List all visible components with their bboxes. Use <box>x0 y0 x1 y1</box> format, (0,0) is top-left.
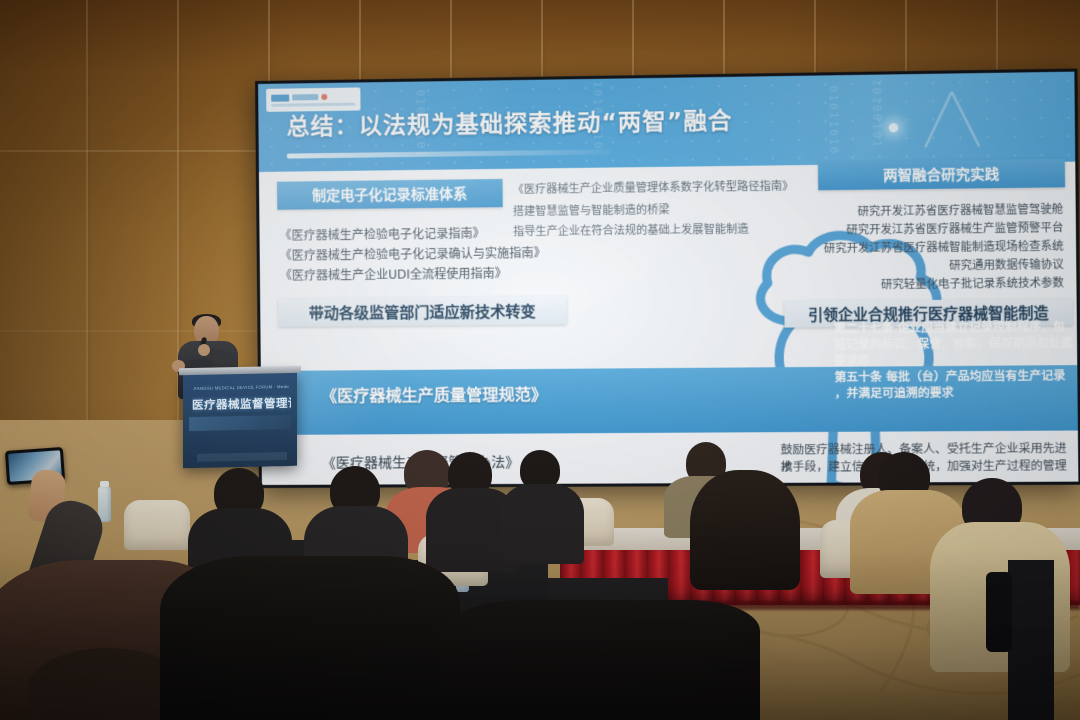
podium: JIANGSU MEDICAL DEVICE FORUM · Medical D… <box>183 371 297 468</box>
band-title: 《医疗器械生产质量管理规范》 <box>321 381 547 407</box>
podium-chinese-text: 医疗器械监督管理论坛 <box>192 395 291 413</box>
left-panel-header: 制定电子化记录标准体系 <box>277 179 503 210</box>
presentation-slide: 01010101 10101010 01011010 10100101 <box>258 72 1078 485</box>
thermos-bottle <box>986 572 1012 652</box>
slide-title-band: 01010101 10101010 01011010 10100101 <box>258 72 1075 172</box>
podium-decor-strip <box>189 415 291 431</box>
binary-decor: 01011010 <box>826 85 840 155</box>
projection-screen: 01010101 10101010 01011010 10100101 <box>258 72 1078 485</box>
right-panel-item: 研究开发江苏省医疗器械智慧监管驾驶舱 <box>858 201 1064 221</box>
left-panel-item: 《医疗器械生产检验电子化记录确认与实施指南》 <box>280 243 546 266</box>
bottle-cap <box>100 481 109 487</box>
center-panel-item: 《医疗器械生产企业质量管理体系数字化转型路径指南》 <box>513 177 794 198</box>
overlay-blue-line: ，并满足可追溯的要求 <box>835 383 1079 401</box>
conference-photo: 01010101 10101010 01011010 10100101 <box>0 0 1080 720</box>
right-panel-header: 两智融合研究实践 <box>818 159 1065 191</box>
left-panel-footer: 带动各级监管部门适应新技术转变 <box>278 296 567 327</box>
left-panel-item: 《医疗器械生产检验电子化记录指南》 <box>279 223 484 245</box>
logo-underline <box>271 102 355 106</box>
slide-title: 总结：以法规为基础探索推动“两智”融合 <box>286 101 732 141</box>
projection-screen-frame: 01010101 10101010 01011010 10100101 <box>255 69 1080 488</box>
logo-mark-secondary <box>292 94 318 100</box>
binary-decor: 10100101 <box>870 79 884 149</box>
podium-lower-panel <box>197 452 287 462</box>
foreground-audience-body <box>160 556 460 720</box>
logo-marks <box>271 93 355 101</box>
logo-dot-icon <box>321 94 327 100</box>
side-table <box>1008 560 1054 720</box>
audience-body <box>500 484 584 564</box>
right-panel-item: 研究开发江苏省医疗器械生产监管预警平台 <box>846 219 1063 239</box>
foreground-audience-body <box>440 600 760 720</box>
overlay-blue-line: 第二十七条 企业应当建立记录控制程序，包 <box>834 317 1078 336</box>
glow-dot-decor <box>889 123 898 132</box>
overlay-blue-line: 括记录的标识、保管、检索、保存期限和处置 <box>834 334 1078 353</box>
podium-top-surface <box>179 366 301 376</box>
overlay-blue-line: 第五十条 每批（台）产品均应当有生产记录 <box>834 367 1078 385</box>
logo-mark <box>271 94 289 101</box>
left-panel-item: 《医疗器械生产企业UDI全流程使用指南》 <box>280 263 507 285</box>
center-panel-item: 指导生产企业在符合法规的基础上发展智能制造 <box>513 220 749 240</box>
right-panel-item: 研究开发江苏省医疗器械智能制造现场检查系统 <box>824 237 1064 257</box>
foreground-audience-body <box>690 470 800 590</box>
podium-english-text: JIANGSU MEDICAL DEVICE FORUM · Medical D… <box>193 384 289 392</box>
overlay-blue-line: 要求等 <box>834 350 1078 369</box>
right-panel-item: 研究通用数据传输协议 <box>949 256 1064 274</box>
chair <box>124 500 190 550</box>
center-panel-item: 搭建智慧监管与智能制造的桥梁 <box>513 201 670 220</box>
up-arrow-icon <box>921 87 984 151</box>
overlay-blue-text: 第二十七条 企业应当建立记录控制程序，包 括记录的标识、保管、检索、保存期限和处… <box>834 317 1078 401</box>
right-panel-item: 研究轻量化电子批记录系统技术参数 <box>881 274 1064 293</box>
speaker-hand-right <box>198 344 210 356</box>
